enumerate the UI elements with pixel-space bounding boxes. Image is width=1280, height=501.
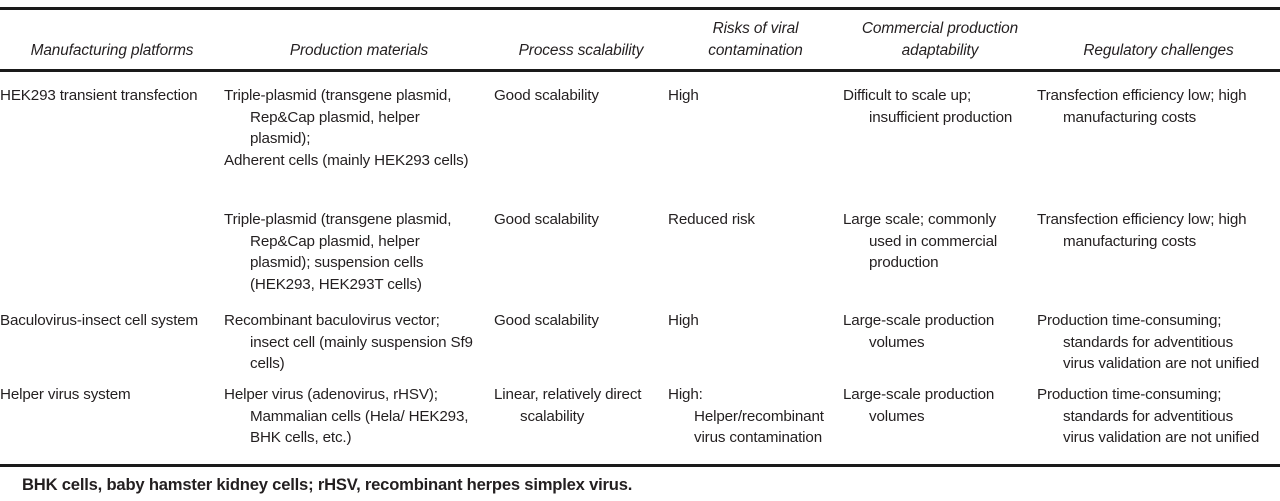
cell-manufacturing-platform: HEK293 transient transfection — [0, 85, 224, 171]
cell-process-scalability: Good scalability — [494, 85, 668, 171]
materials-item: Adherent cells (mainly HEK293 cells) — [250, 150, 482, 172]
table-bottom-rule — [0, 464, 1280, 467]
column-header-line: Commercial production — [843, 18, 1037, 40]
column-header-line: Regulatory challenges — [1037, 40, 1280, 62]
cell-commercial-adaptability: Difficult to scale up; insufficient prod… — [843, 85, 1037, 171]
column-header-process-scalability: Process scalability — [494, 16, 668, 62]
cell-process-scalability: Good scalability — [494, 310, 668, 375]
cell-process-scalability: Linear, relatively direct scalability — [494, 384, 668, 449]
column-header-line: Risks of viral — [668, 18, 843, 40]
cell-process-scalability: Good scalability — [494, 209, 668, 295]
column-header-line: contamination — [668, 40, 843, 62]
cell-regulatory-challenges: Production time-consuming; standards for… — [1037, 384, 1280, 449]
cell-manufacturing-platform: Helper virus system — [0, 384, 224, 449]
cell-viral-contamination-risk: High — [668, 85, 843, 171]
cell-commercial-adaptability: Large scale; commonly used in commercial… — [843, 209, 1037, 295]
materials-item: Recombinant baculovirus vector; insect c… — [250, 310, 482, 375]
cell-regulatory-challenges: Transfection efficiency low; high manufa… — [1037, 85, 1280, 171]
table-row: Triple-plasmid (transgene plasmid, Rep&C… — [0, 209, 1280, 295]
column-header-manufacturing-platforms: Manufacturing platforms — [0, 16, 224, 62]
column-header-line: Process scalability — [494, 40, 668, 62]
comparison-table: Manufacturing platforms Production mater… — [0, 0, 1280, 501]
cell-viral-contamination-risk: Reduced risk — [668, 209, 843, 295]
cell-production-materials: Triple-plasmid (transgene plasmid, Rep&C… — [224, 209, 494, 295]
cell-viral-contamination-risk: High: Helper/recombinant virus contamina… — [668, 384, 843, 449]
table-row: HEK293 transient transfection Triple-pla… — [0, 85, 1280, 171]
materials-item: Helper virus (adenovirus, rHSV); Mammali… — [250, 384, 482, 449]
cell-production-materials: Helper virus (adenovirus, rHSV); Mammali… — [224, 384, 494, 449]
cell-regulatory-challenges: Transfection efficiency low; high manufa… — [1037, 209, 1280, 295]
column-header-risks-of-viral-contamination: Risks of viral contamination — [668, 16, 843, 62]
cell-manufacturing-platform — [0, 209, 224, 295]
table-header-row: Manufacturing platforms Production mater… — [0, 16, 1280, 62]
materials-item: Triple-plasmid (transgene plasmid, Rep&C… — [250, 209, 482, 295]
cell-manufacturing-platform: Baculovirus-insect cell system — [0, 310, 224, 375]
cell-commercial-adaptability: Large-scale production volumes — [843, 384, 1037, 449]
table-footnote: BHK cells, baby hamster kidney cells; rH… — [22, 474, 1262, 495]
table-top-rule — [0, 7, 1280, 10]
column-header-line: adaptability — [843, 40, 1037, 62]
cell-production-materials: Triple-plasmid (transgene plasmid, Rep&C… — [224, 85, 494, 171]
column-header-commercial-production-adaptability: Commercial production adaptability — [843, 16, 1037, 62]
column-header-line: Production materials — [224, 40, 494, 62]
cell-production-materials: Recombinant baculovirus vector; insect c… — [224, 310, 494, 375]
column-header-regulatory-challenges: Regulatory challenges — [1037, 16, 1280, 62]
materials-item: Triple-plasmid (transgene plasmid, Rep&C… — [250, 85, 482, 150]
column-header-production-materials: Production materials — [224, 16, 494, 62]
cell-viral-contamination-risk: High — [668, 310, 843, 375]
table-row: Helper virus system Helper virus (adenov… — [0, 384, 1280, 449]
table-header-rule — [0, 69, 1280, 72]
column-header-line: Manufacturing platforms — [0, 40, 224, 62]
cell-commercial-adaptability: Large-scale production volumes — [843, 310, 1037, 375]
cell-regulatory-challenges: Production time-consuming; standards for… — [1037, 310, 1280, 375]
table-row: Baculovirus-insect cell system Recombina… — [0, 310, 1280, 375]
